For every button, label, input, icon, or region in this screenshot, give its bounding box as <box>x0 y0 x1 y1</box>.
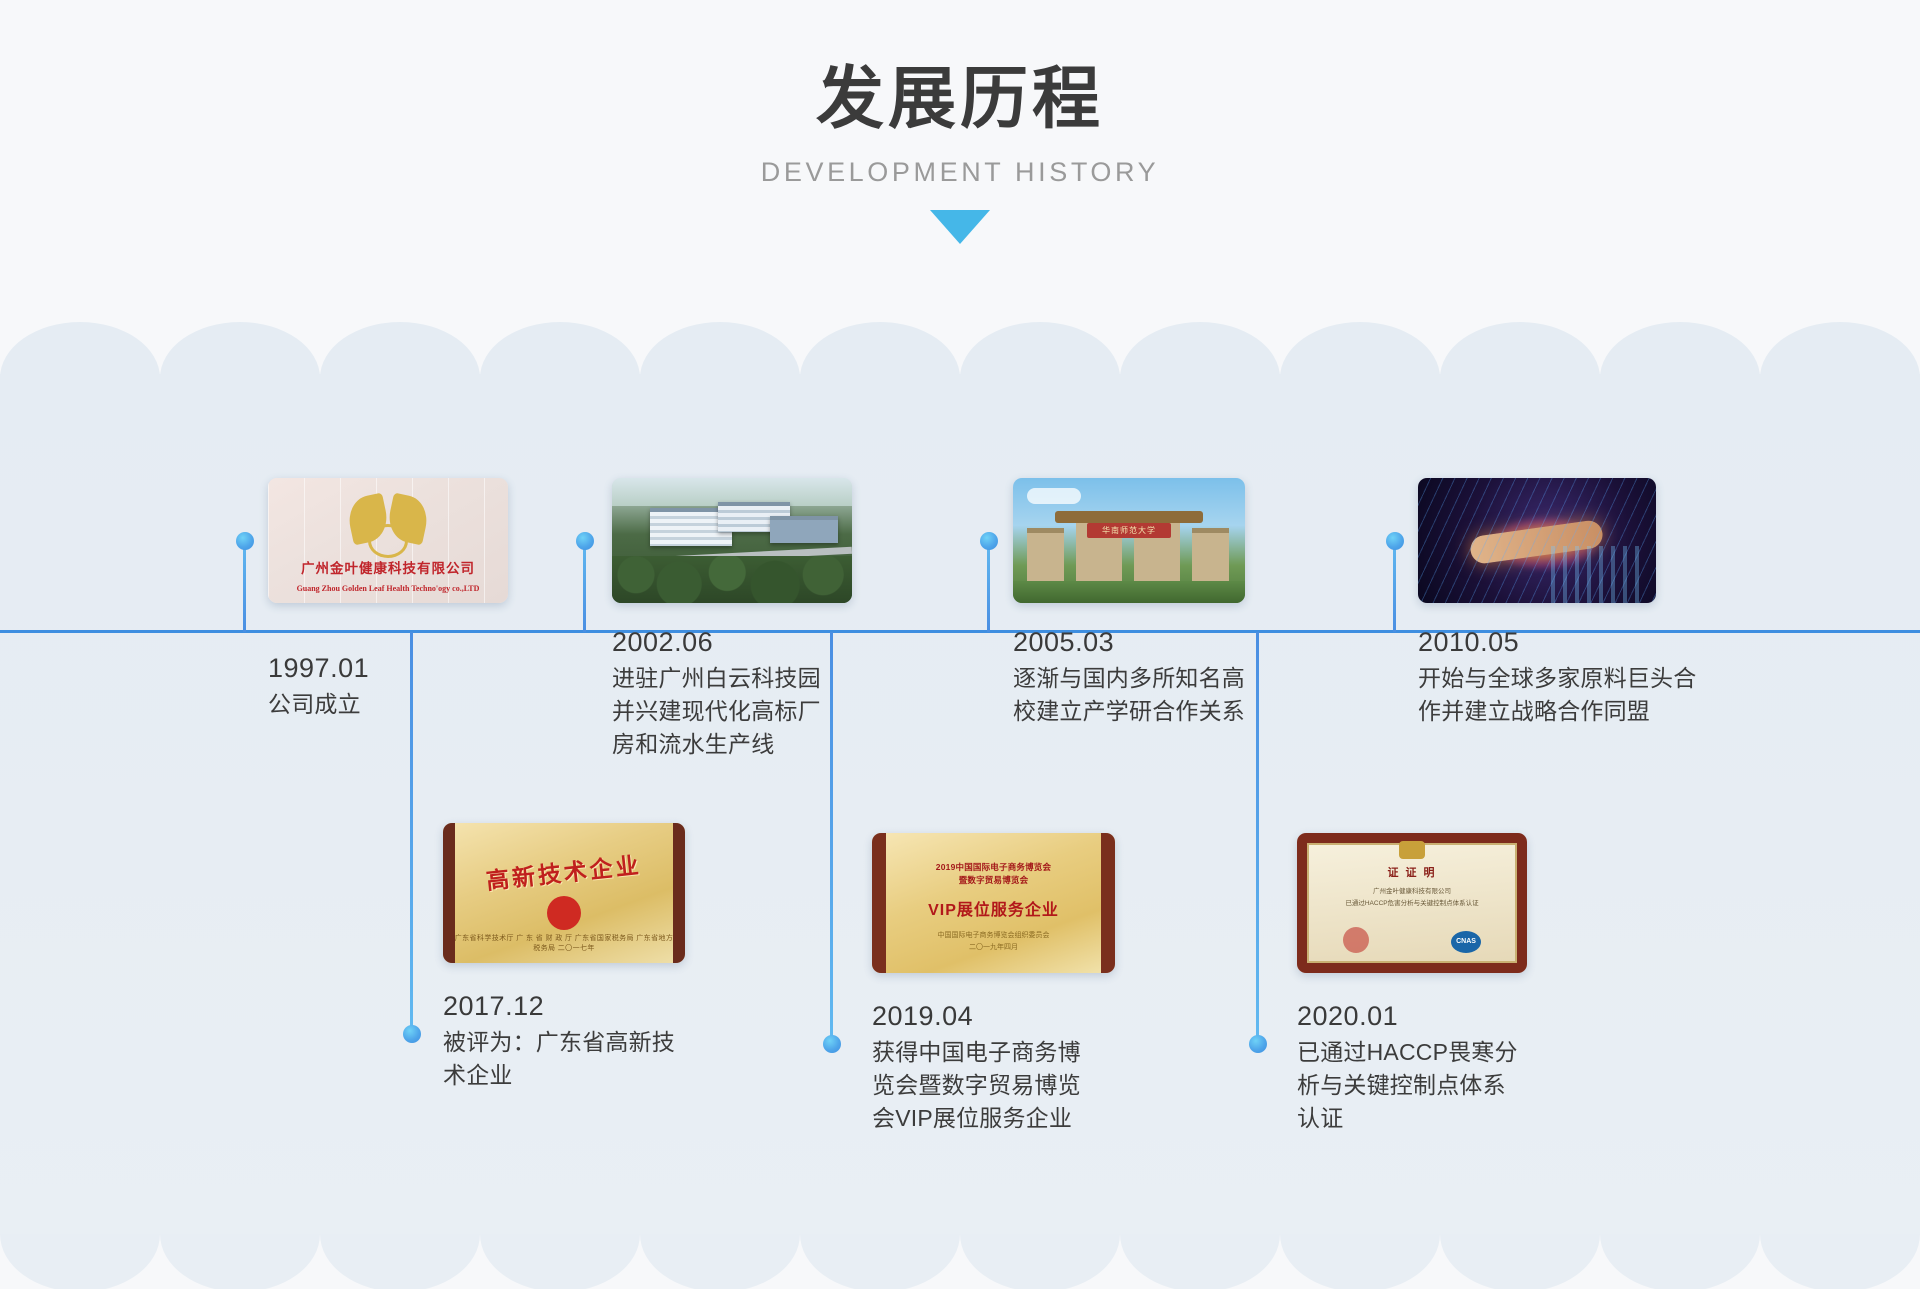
event-description: 开始与全球多家原料巨头合 作并建立战略合作同盟 <box>1418 662 1748 727</box>
certificate-title: 证 证 明 <box>1297 864 1527 880</box>
haccp-certificate-photo: 证 证 明 广州金叶健康科技有限公司 已通过HACCP危害分析与关键控制点体系认… <box>1297 833 1527 973</box>
event-date: 1997.01 <box>268 650 568 686</box>
event-date: 2019.04 <box>872 998 1172 1034</box>
vip-plaque-header: 2019中国国际电子商务博览会 暨数字贸易博览会 <box>901 861 1086 887</box>
connector-stem-2002 <box>583 540 586 632</box>
plaque-caption-cn: 广州金叶健康科技有限公司 <box>268 557 508 577</box>
page-subtitle: DEVELOPMENT HISTORY <box>0 157 1920 188</box>
timeline-dot-2002[interactable] <box>576 532 594 550</box>
company-plaque-photo: 广州金叶健康科技有限公司 Guang Zhou Golden Leaf Heal… <box>268 478 508 603</box>
arrow-wrap <box>0 210 1920 250</box>
timeline-dot-2017[interactable] <box>403 1025 421 1043</box>
event-date: 2010.05 <box>1418 624 1748 660</box>
event-description: 被评为：广东省高新技 术企业 <box>443 1026 743 1091</box>
event-date: 2020.01 <box>1297 998 1597 1034</box>
event-description: 获得中国电子商务博 览会暨数字贸易博览 会VIP展位服务企业 <box>872 1036 1172 1134</box>
certificate-body: 广州金叶健康科技有限公司 已通过HACCP危害分析与关键控制点体系认证 <box>1315 886 1508 909</box>
gold-plaque-footer: 广东省科学技术厅 广 东 省 财 政 厅 广东省国家税务局 广东省地方税务局 二… <box>453 933 676 953</box>
global-partnership-handshake-photo <box>1418 478 1656 603</box>
high-tech-enterprise-plaque-photo: 高新技术企业 广东省科学技术厅 广 东 省 财 政 厅 广东省国家税务局 广东省… <box>443 823 685 963</box>
triangle-down-icon <box>930 210 990 244</box>
vip-plaque-title: VIP展位服务企业 <box>901 896 1086 920</box>
event-description: 逐渐与国内多所知名高 校建立产学研合作关系 <box>1013 662 1333 727</box>
scallop-top-edge <box>0 322 1920 378</box>
timeline-dot-2005[interactable] <box>980 532 998 550</box>
page-header: 发展历程 DEVELOPMENT HISTORY <box>0 0 1920 320</box>
vip-booth-service-plaque-photo: 2019中国国际电子商务博览会 暨数字贸易博览会 VIP展位服务企业 中国国际电… <box>872 833 1115 973</box>
plaque-caption-en: Guang Zhou Golden Leaf Health Techno'ogy… <box>268 584 508 593</box>
connector-stem-2010 <box>1393 540 1396 632</box>
event-description: 已通过HACCP畏寒分 析与关键控制点体系 认证 <box>1297 1036 1597 1134</box>
event-date: 2017.12 <box>443 988 743 1024</box>
timeline-dot-2020[interactable] <box>1249 1035 1267 1053</box>
cloud-band <box>0 322 1920 1289</box>
development-history-page: 发展历程 DEVELOPMENT HISTORY <box>0 0 1920 1289</box>
timeline-dot-1997[interactable] <box>236 532 254 550</box>
page-title: 发展历程 <box>0 0 1920 137</box>
scallop-bottom-edge <box>0 1234 1920 1289</box>
vip-plaque-footer: 中国国际电子商务博览会组织委员会 二〇一九年四月 <box>901 930 1086 954</box>
connector-stem-2005 <box>987 540 990 632</box>
event-date: 2002.06 <box>612 624 912 660</box>
event-date: 2005.03 <box>1013 624 1333 660</box>
university-gate-photo: 华南师范大学 <box>1013 478 1245 603</box>
timeline-dot-2010[interactable] <box>1386 532 1404 550</box>
connector-stem-1997 <box>243 540 246 632</box>
factory-aerial-photo <box>612 478 852 603</box>
timeline-dot-2019[interactable] <box>823 1035 841 1053</box>
event-description: 公司成立 <box>268 688 568 721</box>
event-description: 进驻广州白云科技园 并兴建现代化高标厂 房和流水生产线 <box>612 662 912 760</box>
gate-plaque-text: 华南师范大学 <box>1087 523 1171 538</box>
